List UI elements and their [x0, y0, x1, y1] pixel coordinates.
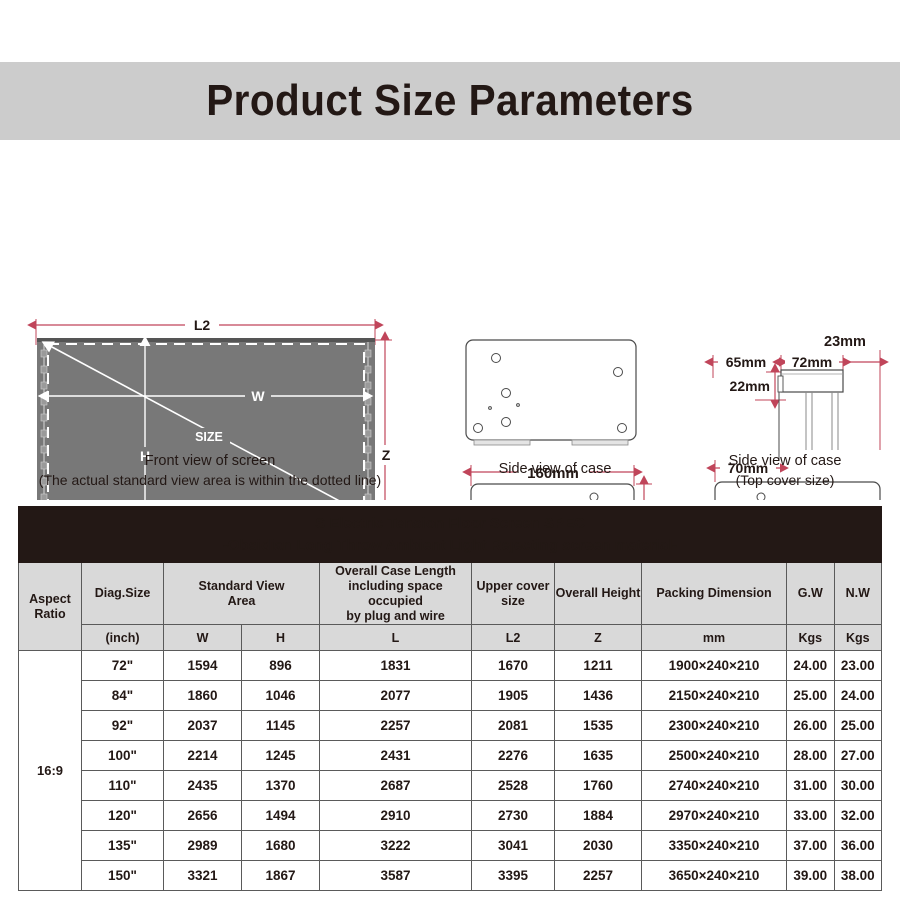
cell-diag-size: 100" — [82, 741, 164, 771]
cell-net-weight: 30.00 — [834, 771, 882, 801]
unit-packing: mm — [642, 625, 787, 651]
cell-height: 1145 — [242, 711, 320, 741]
unit-z: Z — [555, 625, 642, 651]
cell-upper-cover: 1670 — [472, 651, 555, 681]
unit-l: L — [320, 625, 472, 651]
diagram-captions: Front view of screen (The actual standar… — [0, 452, 900, 502]
cell-gross-weight: 26.00 — [787, 711, 835, 741]
unit-gw: Kgs — [787, 625, 835, 651]
title-banner: Product Size Parameters — [0, 62, 900, 140]
cell-gross-weight: 24.00 — [787, 651, 835, 681]
table-row: 16:972"15948961831167012111900×240×21024… — [19, 651, 882, 681]
cell-case-length: 3222 — [320, 831, 472, 861]
header-upper-cover-line1: Upper cover — [472, 579, 554, 594]
cell-overall-height: 1211 — [555, 651, 642, 681]
top-cover-body — [778, 370, 843, 460]
header-packing-dimension: Packing Dimension — [642, 563, 787, 625]
table-row: 135"298916803222304120303350×240×21037.0… — [19, 831, 882, 861]
cell-overall-height: 1635 — [555, 741, 642, 771]
unit-w: W — [164, 625, 242, 651]
header-upper-cover-size: Upper cover size — [472, 563, 555, 625]
caption-top-line2: (Top cover size) — [670, 471, 900, 490]
cell-width: 3321 — [164, 861, 242, 891]
cell-case-length: 2257 — [320, 711, 472, 741]
cell-height: 1245 — [242, 741, 320, 771]
unit-diag-size: (inch) — [82, 625, 164, 651]
cell-height: 896 — [242, 651, 320, 681]
cell-diag-size: 135" — [82, 831, 164, 861]
cell-diag-size: 110" — [82, 771, 164, 801]
cell-net-weight: 32.00 — [834, 801, 882, 831]
label-23mm: 23mm — [824, 334, 866, 350]
cell-packing-dimension: 1900×240×210 — [642, 651, 787, 681]
cell-case-length: 2910 — [320, 801, 472, 831]
header-standard-view-area-line1: Standard View — [164, 579, 319, 594]
dimension-22mm: 22mm — [730, 372, 786, 400]
caption-top-line1: Side view of case — [670, 452, 900, 471]
table-row: 120"265614942910273018842970×240×21033.0… — [19, 801, 882, 831]
cell-width: 2037 — [164, 711, 242, 741]
cell-overall-height: 1535 — [555, 711, 642, 741]
unit-l2: L2 — [472, 625, 555, 651]
cell-overall-height: 2030 — [555, 831, 642, 861]
table-unit-row: (inch) W H L L2 Z mm Kgs Kgs — [19, 625, 882, 651]
cell-gross-weight: 37.00 — [787, 831, 835, 861]
caption-front-line1: Front view of screen — [0, 452, 420, 471]
table-row: 110"243513702687252817602740×240×21031.0… — [19, 771, 882, 801]
cell-width: 2435 — [164, 771, 242, 801]
header-case-length-line1: Overall Case Length — [320, 564, 471, 579]
cell-upper-cover: 2276 — [472, 741, 555, 771]
cell-packing-dimension: 2500×240×210 — [642, 741, 787, 771]
cell-packing-dimension: 2740×240×210 — [642, 771, 787, 801]
label-l2: L2 — [194, 317, 211, 333]
header-diag-size: Diag.Size — [82, 563, 164, 625]
cell-net-weight: 38.00 — [834, 861, 882, 891]
table-body: 16:972"15948961831167012111900×240×21024… — [19, 651, 882, 891]
table-title-row: S Electric Tension Floor Screen SPEC -Ob… — [19, 507, 882, 563]
side-view-case-plain — [466, 340, 636, 445]
caption-side-line1: Side view of case — [420, 460, 690, 479]
cell-case-length: 2687 — [320, 771, 472, 801]
cell-upper-cover: 3041 — [472, 831, 555, 861]
spec-table-container: S Electric Tension Floor Screen SPEC -Ob… — [18, 506, 882, 891]
cell-height: 1680 — [242, 831, 320, 861]
cell-upper-cover: 2528 — [472, 771, 555, 801]
header-aspect-ratio: Aspect Ratio — [19, 563, 82, 651]
header-standard-view-area: Standard View Area — [164, 563, 320, 625]
cell-diag-size: 84" — [82, 681, 164, 711]
caption-front-line2: (The actual standard view area is within… — [0, 471, 420, 490]
label-22mm: 22mm — [730, 378, 770, 394]
cell-case-length: 2077 — [320, 681, 472, 711]
label-size: SIZE — [195, 430, 223, 444]
cell-gross-weight: 39.00 — [787, 861, 835, 891]
cell-upper-cover: 2730 — [472, 801, 555, 831]
diagram-panel: L2 — [0, 150, 900, 500]
header-case-length-line3: by plug and wire — [320, 609, 471, 624]
cell-overall-height: 1760 — [555, 771, 642, 801]
header-net-weight: N.W — [834, 563, 882, 625]
table-row: 84"186010462077190514362150×240×21025.00… — [19, 681, 882, 711]
cell-case-length: 3587 — [320, 861, 472, 891]
caption-side-view: Side view of case — [420, 460, 690, 479]
table-row: 92"203711452257208115352300×240×21026.00… — [19, 711, 882, 741]
cell-height: 1046 — [242, 681, 320, 711]
header-overall-height: Overall Height — [555, 563, 642, 625]
cell-packing-dimension: 3350×240×210 — [642, 831, 787, 861]
cell-packing-dimension: 2150×240×210 — [642, 681, 787, 711]
cell-gross-weight: 28.00 — [787, 741, 835, 771]
cell-width: 1594 — [164, 651, 242, 681]
cell-width: 2989 — [164, 831, 242, 861]
label-w: W — [251, 388, 265, 404]
cell-case-length: 2431 — [320, 741, 472, 771]
unit-h: H — [242, 625, 320, 651]
cell-packing-dimension: 2300×240×210 — [642, 711, 787, 741]
cell-width: 1860 — [164, 681, 242, 711]
cell-upper-cover: 2081 — [472, 711, 555, 741]
cell-height: 1370 — [242, 771, 320, 801]
table-row: 100"221412452431227616352500×240×21028.0… — [19, 741, 882, 771]
dimension-65mm: 65mm — [713, 353, 779, 378]
cell-overall-height: 2257 — [555, 861, 642, 891]
cell-net-weight: 25.00 — [834, 711, 882, 741]
cell-gross-weight: 33.00 — [787, 801, 835, 831]
cell-net-weight: 23.00 — [834, 651, 882, 681]
cell-diag-size: 72" — [82, 651, 164, 681]
caption-top-cover: Side view of case (Top cover size) — [670, 452, 900, 490]
header-gross-weight: G.W — [787, 563, 835, 625]
spec-table-title: S Electric Tension Floor Screen SPEC -Ob… — [19, 507, 882, 563]
page-title: Product Size Parameters — [206, 76, 694, 126]
header-case-length-line2: including space occupied — [320, 579, 471, 609]
cell-width: 2656 — [164, 801, 242, 831]
cell-aspect-ratio: 16:9 — [19, 651, 82, 891]
table-header-row: Aspect Ratio Diag.Size Standard View Are… — [19, 563, 882, 625]
cell-case-length: 1831 — [320, 651, 472, 681]
cell-gross-weight: 31.00 — [787, 771, 835, 801]
dimension-23mm-line — [845, 350, 880, 450]
cell-overall-height: 1884 — [555, 801, 642, 831]
header-overall-case-length: Overall Case Length including space occu… — [320, 563, 472, 625]
caption-front-view: Front view of screen (The actual standar… — [0, 452, 420, 490]
spec-table: S Electric Tension Floor Screen SPEC -Ob… — [18, 506, 882, 891]
cell-width: 2214 — [164, 741, 242, 771]
cell-net-weight: 24.00 — [834, 681, 882, 711]
header-aspect-ratio-line1: Aspect — [19, 592, 81, 607]
cell-diag-size: 120" — [82, 801, 164, 831]
header-standard-view-area-line2: Area — [164, 594, 319, 609]
cell-upper-cover: 3395 — [472, 861, 555, 891]
label-72mm: 72mm — [792, 354, 832, 370]
cell-gross-weight: 25.00 — [787, 681, 835, 711]
cell-packing-dimension: 2970×240×210 — [642, 801, 787, 831]
cell-height: 1494 — [242, 801, 320, 831]
cell-diag-size: 150" — [82, 861, 164, 891]
spec-title-line2: -Obsidian Long Throw Ambient Light Rejec… — [19, 535, 881, 557]
cell-diag-size: 92" — [82, 711, 164, 741]
cell-height: 1867 — [242, 861, 320, 891]
cell-packing-dimension: 3650×240×210 — [642, 861, 787, 891]
cell-net-weight: 36.00 — [834, 831, 882, 861]
header-aspect-ratio-line2: Ratio — [19, 607, 81, 622]
table-row: 150"332118673587339522573650×240×21039.0… — [19, 861, 882, 891]
spec-title-line1: S Electric Tension Floor Screen SPEC — [19, 513, 881, 535]
cell-upper-cover: 1905 — [472, 681, 555, 711]
label-65mm: 65mm — [726, 354, 766, 370]
cell-net-weight: 27.00 — [834, 741, 882, 771]
unit-nw: Kgs — [834, 625, 882, 651]
header-upper-cover-line2: size — [472, 594, 554, 609]
cell-overall-height: 1436 — [555, 681, 642, 711]
